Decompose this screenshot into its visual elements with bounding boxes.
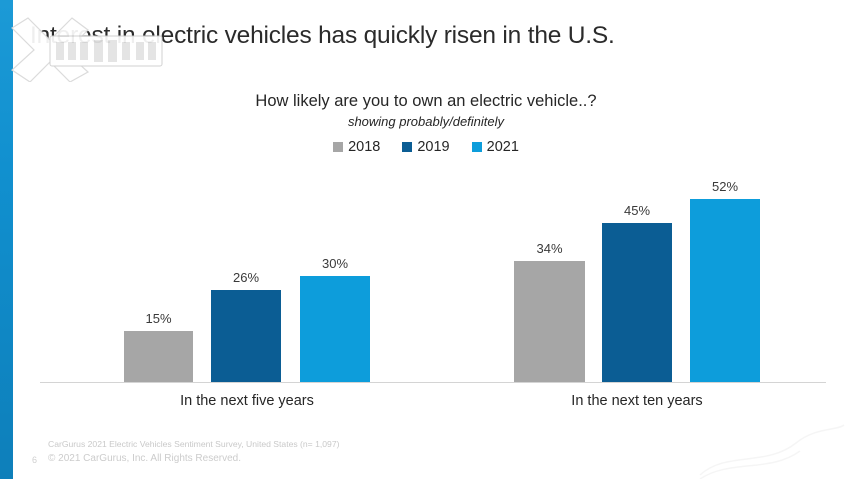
bar-value-label-2018-ten-years: 34% bbox=[514, 241, 585, 256]
bar-value-label-2021-five-years: 30% bbox=[300, 256, 370, 271]
chart-plot-area: 15% 26% 30% In the next five years 34% 4… bbox=[0, 0, 852, 479]
bar-2018-ten-years[interactable] bbox=[514, 261, 585, 382]
bar-2019-five-years[interactable] bbox=[211, 290, 281, 382]
bar-2018-five-years[interactable] bbox=[124, 331, 193, 382]
bar-value-label-2019-ten-years: 45% bbox=[602, 203, 672, 218]
bar-value-label-2018-five-years: 15% bbox=[124, 311, 193, 326]
bar-2021-ten-years[interactable] bbox=[690, 199, 760, 382]
group-label-five-years: In the next five years bbox=[124, 393, 370, 409]
footer-source-note: CarGurus 2021 Electric Vehicles Sentimen… bbox=[48, 439, 339, 449]
slide-canvas: Interest in electric vehicles has quickl… bbox=[0, 0, 852, 479]
bar-2021-five-years[interactable] bbox=[300, 276, 370, 382]
bar-value-label-2019-five-years: 26% bbox=[211, 270, 281, 285]
group-label-ten-years: In the next ten years bbox=[514, 393, 760, 409]
page-number: 6 bbox=[32, 455, 37, 465]
bar-value-label-2021-ten-years: 52% bbox=[690, 179, 760, 194]
chart-baseline-axis bbox=[40, 382, 826, 383]
footer-copyright: © 2021 CarGurus, Inc. All Rights Reserve… bbox=[48, 453, 241, 464]
bar-2019-ten-years[interactable] bbox=[602, 223, 672, 382]
